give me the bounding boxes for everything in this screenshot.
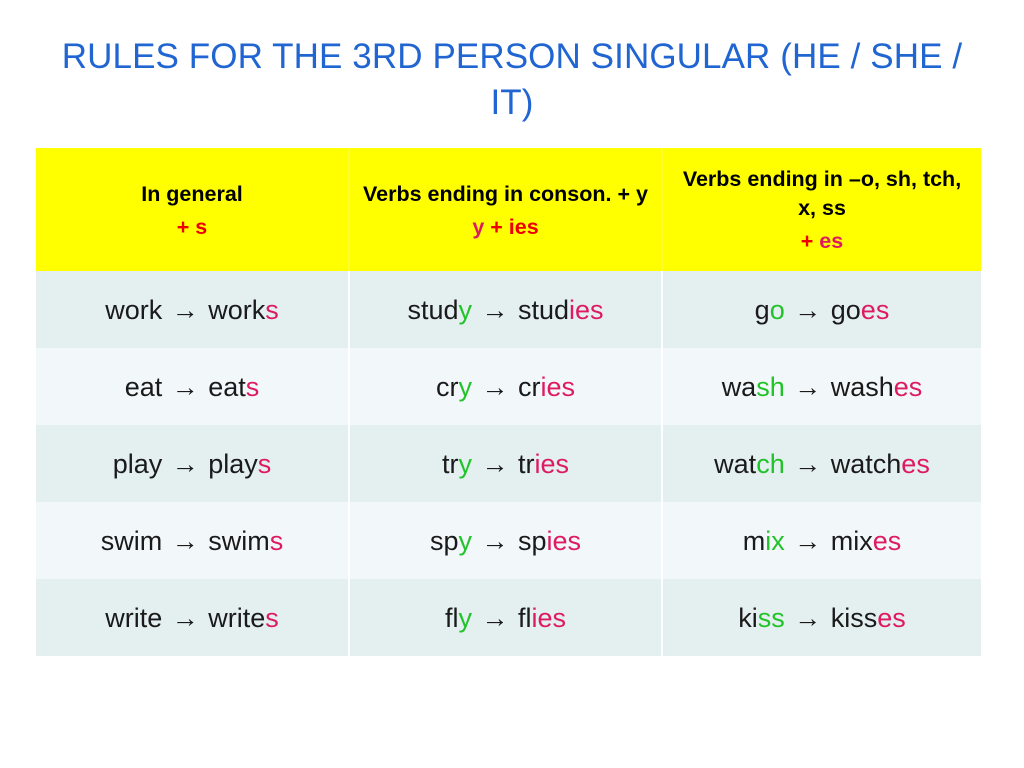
word-segment: es (861, 295, 890, 325)
word-segment: es (877, 603, 906, 633)
table-header: In general + s Verbs ending in conson. +… (36, 148, 981, 271)
table-row: write → writesfly → flieskiss → kisses (36, 579, 981, 656)
conjugated-verb: watches (831, 449, 930, 479)
verb-example-cell: eat → eats (36, 348, 349, 425)
word-segment: eat (208, 372, 246, 402)
conjugated-verb: tries (518, 449, 569, 479)
verb-example-cell: wash → washes (662, 348, 981, 425)
arrow-icon: → (162, 295, 208, 325)
arrow-icon: → (472, 449, 518, 479)
rule-segment: es (819, 229, 843, 253)
column-header-in-general: In general + s (36, 148, 349, 271)
page-title: RULES FOR THE 3RD PERSON SINGULAR (HE / … (55, 34, 969, 126)
arrow-icon: → (162, 449, 208, 479)
conjugated-verb: studies (518, 295, 604, 325)
base-verb: write (105, 603, 162, 633)
table-row: play → playstry → trieswatch → watches (36, 425, 981, 502)
word-segment: y (458, 526, 472, 556)
word-segment: ch (756, 449, 785, 479)
word-segment: tr (442, 449, 459, 479)
column-header-consonant-plus-y: Verbs ending in conson. + y y + ies (349, 148, 662, 271)
conjugated-verb: swims (208, 526, 283, 556)
conjugated-verb: plays (208, 449, 271, 479)
rule-segment: ies (509, 215, 539, 239)
base-verb: spy (430, 526, 472, 556)
base-verb: swim (101, 526, 163, 556)
word-segment: y (458, 372, 472, 402)
rule-segment: y (472, 215, 484, 239)
verb-example-cell: watch → watches (662, 425, 981, 502)
word-segment: s (265, 295, 279, 325)
column-header-title: Verbs ending in –o, sh, tch, x, ss (671, 165, 973, 223)
arrow-icon: → (162, 526, 208, 556)
word-segment: work (105, 295, 162, 325)
word-segment: ies (535, 449, 570, 479)
word-segment: ies (569, 295, 604, 325)
verb-example-cell: fly → flies (349, 579, 662, 656)
conjugated-verb: writes (208, 603, 279, 633)
verb-example-cell: work → works (36, 271, 349, 348)
rule-segment: + (801, 229, 820, 253)
word-segment: write (105, 603, 162, 633)
base-verb: fly (445, 603, 472, 633)
word-segment: tr (518, 449, 535, 479)
word-segment: wat (714, 449, 756, 479)
word-segment: stud (407, 295, 458, 325)
word-segment: kiss (831, 603, 878, 633)
base-verb: play (113, 449, 163, 479)
conjugated-verb: washes (831, 372, 923, 402)
verb-example-cell: go → goes (662, 271, 981, 348)
conjugated-verb: goes (831, 295, 890, 325)
word-segment: sp (518, 526, 547, 556)
word-segment: es (873, 526, 902, 556)
verb-example-cell: cry → cries (349, 348, 662, 425)
table-row: swim → swimsspy → spiesmix → mixes (36, 502, 981, 579)
word-segment: wash (831, 372, 894, 402)
word-segment: ies (541, 372, 576, 402)
column-header-title: Verbs ending in conson. + y (358, 180, 653, 209)
word-segment: ies (547, 526, 582, 556)
word-segment: s (246, 372, 260, 402)
word-segment: s (270, 526, 284, 556)
table-header-row: In general + s Verbs ending in conson. +… (36, 148, 981, 271)
word-segment: eat (125, 372, 163, 402)
word-segment: s (265, 603, 279, 633)
column-header-rule: + s (44, 213, 340, 242)
word-segment: stud (518, 295, 569, 325)
column-header-rule: + es (671, 227, 973, 256)
arrow-icon: → (785, 449, 831, 479)
verb-example-cell: write → writes (36, 579, 349, 656)
arrow-icon: → (785, 603, 831, 633)
verb-conjugation-table: In general + s Verbs ending in conson. +… (36, 148, 981, 656)
word-segment: sp (430, 526, 459, 556)
arrow-icon: → (785, 372, 831, 402)
base-verb: eat (125, 372, 163, 402)
word-segment: ki (738, 603, 758, 633)
column-header-o-sh-tch-x-ss: Verbs ending in –o, sh, tch, x, ss + es (662, 148, 981, 271)
word-segment: go (831, 295, 861, 325)
arrow-icon: → (162, 372, 208, 402)
column-header-rule: y + ies (358, 213, 653, 242)
verb-example-cell: mix → mixes (662, 502, 981, 579)
word-segment: es (901, 449, 930, 479)
word-segment: fl (445, 603, 459, 633)
conjugated-verb: cries (518, 372, 575, 402)
word-segment: cr (518, 372, 541, 402)
word-segment: swim (208, 526, 270, 556)
word-segment: ies (532, 603, 567, 633)
word-segment: g (755, 295, 770, 325)
conjugated-verb: flies (518, 603, 566, 633)
base-verb: cry (436, 372, 472, 402)
base-verb: watch (714, 449, 785, 479)
word-segment: o (770, 295, 785, 325)
arrow-icon: → (785, 295, 831, 325)
rule-segment: + (484, 215, 509, 239)
arrow-icon: → (785, 526, 831, 556)
word-segment: work (208, 295, 265, 325)
word-segment: play (113, 449, 163, 479)
word-segment: watch (831, 449, 902, 479)
table-row: work → worksstudy → studiesgo → goes (36, 271, 981, 348)
table-body: work → worksstudy → studiesgo → goeseat … (36, 271, 981, 656)
conjugated-verb: kisses (831, 603, 906, 633)
word-segment: play (208, 449, 258, 479)
word-segment: ss (758, 603, 785, 633)
verb-example-cell: swim → swims (36, 502, 349, 579)
base-verb: work (105, 295, 162, 325)
conjugated-verb: spies (518, 526, 581, 556)
base-verb: kiss (738, 603, 785, 633)
verb-example-cell: kiss → kisses (662, 579, 981, 656)
rule-segment: + s (177, 215, 208, 239)
verb-example-cell: study → studies (349, 271, 662, 348)
word-segment: es (894, 372, 923, 402)
word-segment: y (458, 603, 472, 633)
table-row: eat → eatscry → crieswash → washes (36, 348, 981, 425)
base-verb: mix (743, 526, 785, 556)
base-verb: wash (722, 372, 785, 402)
verb-example-cell: play → plays (36, 425, 349, 502)
word-segment: wa (722, 372, 757, 402)
word-segment: s (258, 449, 272, 479)
word-segment: y (458, 449, 472, 479)
word-segment: fl (518, 603, 532, 633)
base-verb: try (442, 449, 472, 479)
word-segment: y (458, 295, 472, 325)
arrow-icon: → (162, 603, 208, 633)
slide-canvas: RULES FOR THE 3RD PERSON SINGULAR (HE / … (0, 0, 1024, 768)
column-header-title: In general (44, 180, 340, 209)
conjugated-verb: mixes (831, 526, 902, 556)
verb-example-cell: try → tries (349, 425, 662, 502)
arrow-icon: → (472, 372, 518, 402)
arrow-icon: → (472, 603, 518, 633)
word-segment: write (208, 603, 265, 633)
word-segment: mix (831, 526, 873, 556)
conjugated-verb: works (208, 295, 279, 325)
conjugated-verb: eats (208, 372, 259, 402)
word-segment: ix (765, 526, 785, 556)
base-verb: study (407, 295, 472, 325)
verb-example-cell: spy → spies (349, 502, 662, 579)
word-segment: m (743, 526, 766, 556)
word-segment: cr (436, 372, 459, 402)
word-segment: sh (756, 372, 785, 402)
arrow-icon: → (472, 526, 518, 556)
word-segment: swim (101, 526, 163, 556)
arrow-icon: → (472, 295, 518, 325)
base-verb: go (755, 295, 785, 325)
